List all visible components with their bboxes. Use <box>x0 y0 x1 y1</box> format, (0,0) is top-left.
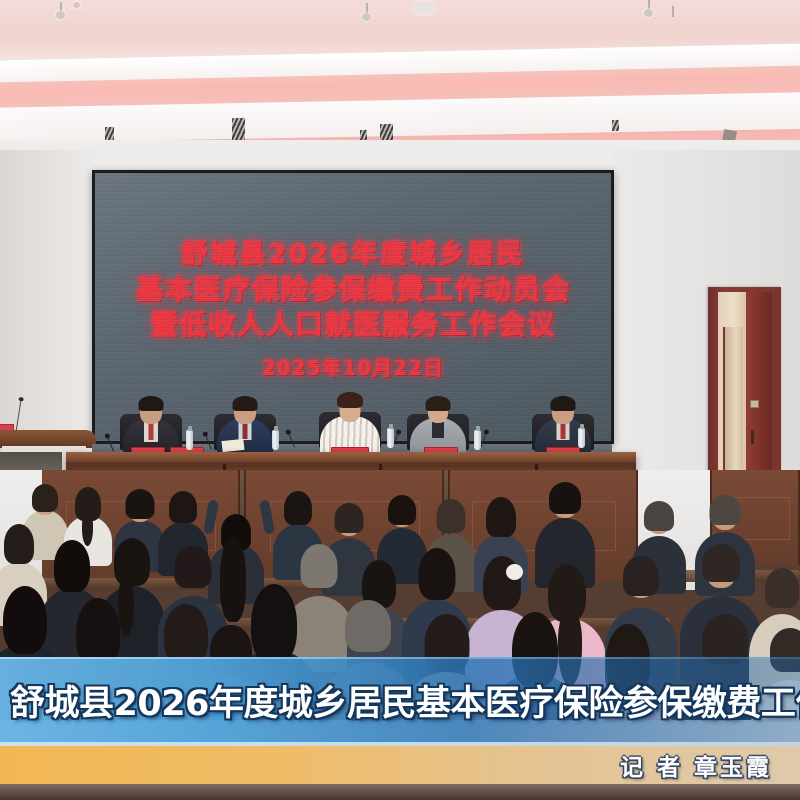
panelist-hair <box>426 396 451 411</box>
water-bottle <box>272 430 279 450</box>
ceiling-vent-icon <box>105 127 114 140</box>
audience-hair <box>702 544 740 582</box>
ceiling-light-icon <box>73 2 80 8</box>
hair-scrunchie <box>506 564 523 580</box>
audience-hair-gray <box>345 600 391 652</box>
audience-hair <box>169 491 197 523</box>
audience-hair <box>623 556 659 596</box>
lower-third-top-highlight <box>0 657 800 659</box>
water-bottle <box>578 428 585 448</box>
audience-hair <box>549 482 581 514</box>
audience-hair <box>765 568 799 608</box>
panelist-hair <box>139 396 164 411</box>
audience-hair <box>3 586 47 654</box>
panelist-hair <box>337 392 363 408</box>
audience-hair <box>32 484 58 512</box>
ceiling-light-icon <box>56 11 65 19</box>
panelist-tie <box>561 424 566 439</box>
head-table-top <box>66 452 636 462</box>
water-bottle <box>474 430 481 450</box>
audience-hair <box>335 503 364 533</box>
water-bottle <box>186 430 193 450</box>
ceiling-light-icon <box>672 6 674 17</box>
led-date-line: 2025年10月22日 <box>262 357 444 381</box>
audience-hair <box>175 546 212 588</box>
led-title-line-2: 基本医疗保险参保缴费工作动员会 <box>135 273 570 306</box>
lower-third-headline: 舒城县2026年度城乡居民基本医疗保险参保缴费工作动员会召开 <box>10 663 800 737</box>
audience-hair <box>388 495 416 525</box>
reporter-credit: 记 者 章玉霞 <box>620 748 772 782</box>
panelist-shirt <box>432 422 444 438</box>
ceiling-light-icon <box>362 13 371 21</box>
ceiling-light-icon <box>644 9 653 17</box>
led-title-line-1: 舒城县2026年度城乡居民 <box>181 239 525 271</box>
documents <box>221 439 244 452</box>
panelist-tie <box>149 424 154 440</box>
audience-hair <box>710 495 741 525</box>
audience-hair <box>284 491 312 525</box>
headline-text: 舒城县2026年度城乡居民基本医疗保险参保缴费工作动员会召开 <box>10 675 800 726</box>
audience-hair <box>486 497 516 537</box>
door-leaf <box>746 292 772 492</box>
reporter-text: 记 者 章玉霞 <box>620 748 772 782</box>
audience-hair <box>437 499 466 533</box>
panelist-hair <box>551 396 576 411</box>
water-bottle <box>387 428 394 448</box>
ceiling-light-icon <box>414 2 434 14</box>
ceiling-vent-icon <box>232 118 245 140</box>
audience-hair <box>644 501 674 531</box>
door-sign-icon <box>750 400 759 408</box>
led-title-line-3: 暨低收人人口就医服务工作会议 <box>150 308 556 341</box>
audience-hair <box>126 489 155 519</box>
broadcast-video-frame: 舒城县2026年度城乡居民 基本医疗保险参保缴费工作动员会 暨低收人人口就医服务… <box>0 0 800 800</box>
panelist-hair <box>233 396 258 411</box>
audience-hair <box>419 548 456 600</box>
door-handle-icon <box>751 430 754 444</box>
panelist-tie <box>243 424 248 439</box>
audience-hair <box>4 524 34 564</box>
audience-hair <box>114 538 150 586</box>
frame-bottom-edge <box>0 784 800 800</box>
ceiling-vent-icon <box>612 120 619 131</box>
